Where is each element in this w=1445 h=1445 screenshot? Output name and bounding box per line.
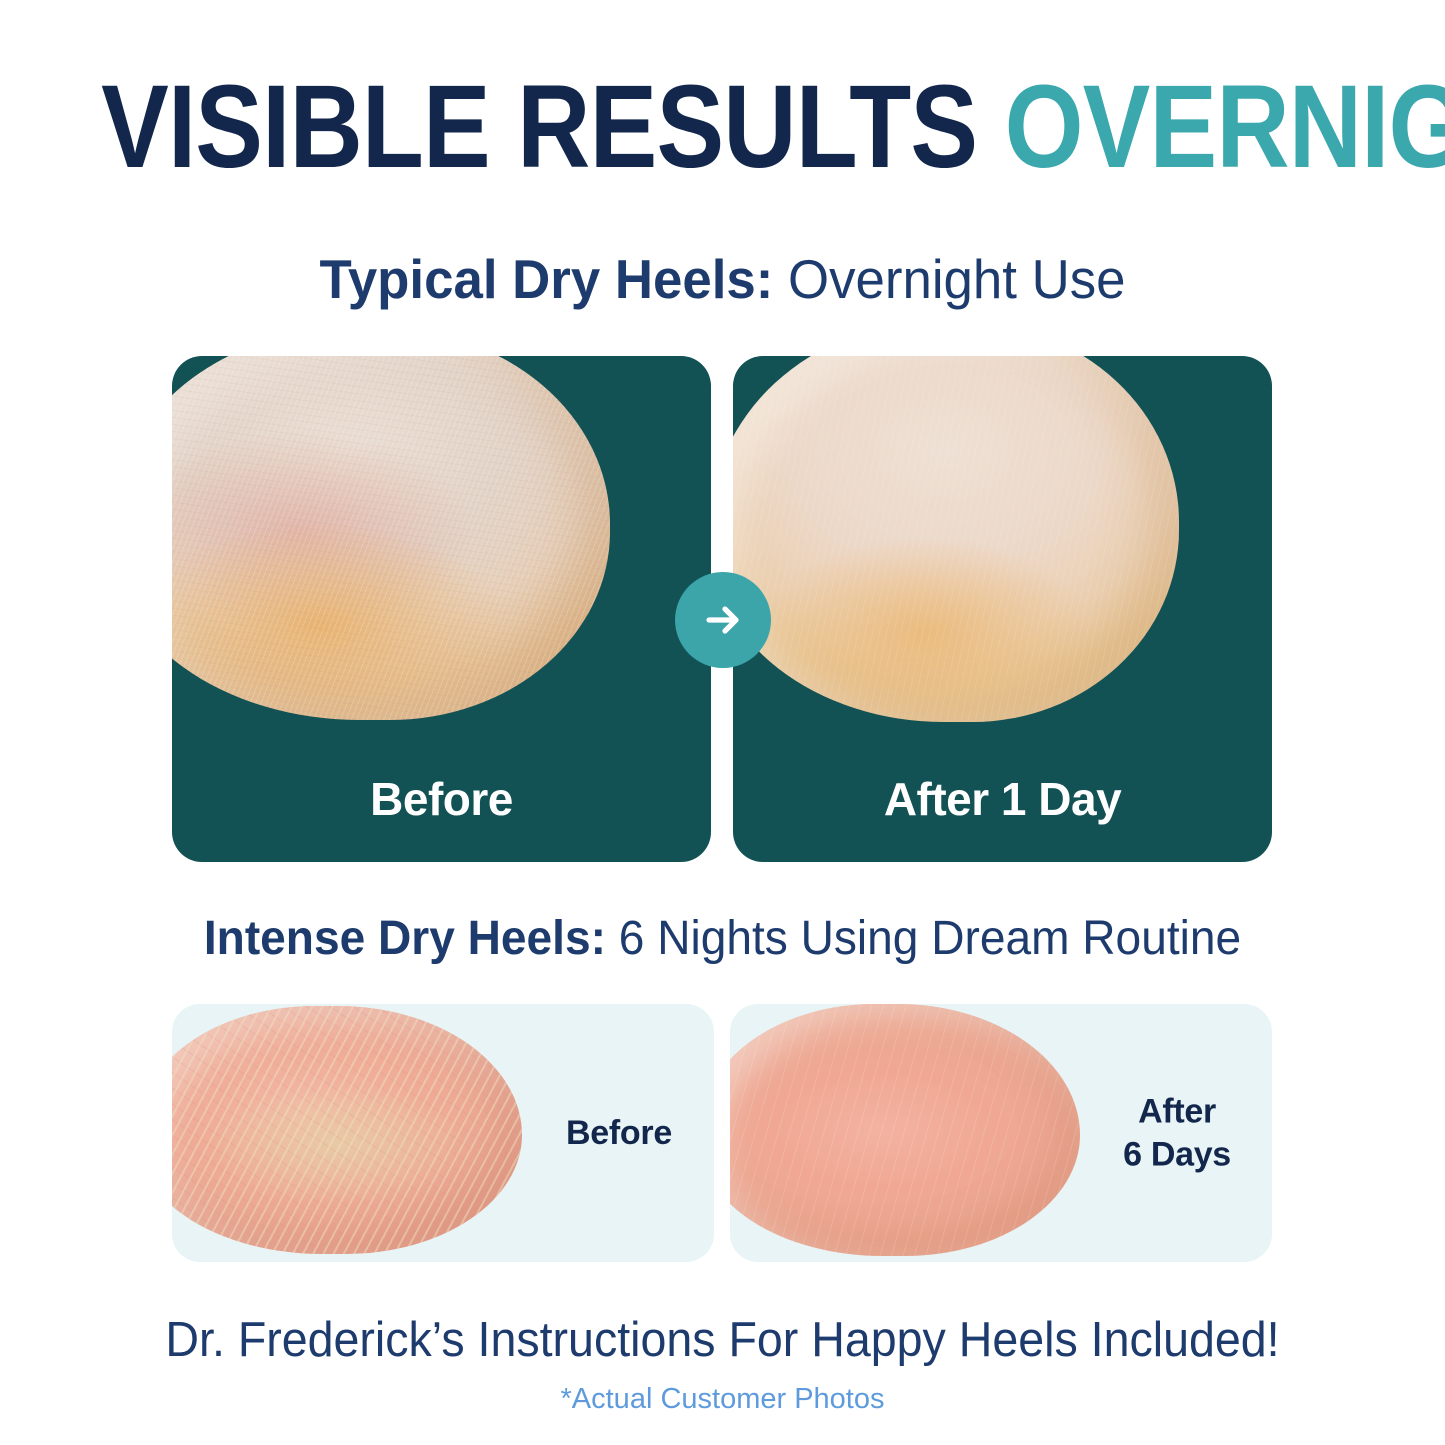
after-photo-container [733, 356, 1272, 724]
panel-label-intense-before: Before [524, 1112, 714, 1155]
page-title: VISIBLE RESULTS OVERNIGHT [101, 68, 1344, 186]
cracked-heel-before-photo [172, 1006, 522, 1254]
section-1-heading-regular: Overnight Use [788, 248, 1125, 310]
section-2-heading-bold: Intense Dry Heels: [204, 912, 606, 965]
section-1-heading-bold: Typical Dry Heels: [319, 248, 773, 310]
panel-label-intense-after: After 6 Days [1082, 1091, 1272, 1176]
panel-label-after: After 1 Day [733, 772, 1272, 826]
before-photo-container [172, 356, 711, 724]
footer-headline: Dr. Frederick’s Instructions For Happy H… [36, 1312, 1409, 1368]
footer-disclaimer: *Actual Customer Photos [0, 1383, 1445, 1416]
cracked-heel-after-photo [730, 1004, 1080, 1256]
dry-heel-after-photo [733, 356, 1179, 722]
section-2-heading-regular: 6 Nights Using Dream Routine [619, 912, 1241, 965]
headline-primary: VISIBLE RESULTS [101, 61, 977, 193]
intense-before-photo-container [172, 1004, 522, 1262]
headline-accent: OVERNIGHT [1005, 61, 1445, 193]
dry-heel-before-photo [172, 356, 610, 720]
before-after-panel-before: Before [172, 356, 711, 862]
panel-label-before: Before [172, 772, 711, 826]
section-1-heading: Typical Dry Heels: Overnight Use [29, 249, 1416, 311]
intense-after-photo-container [730, 1004, 1080, 1262]
panel-label-intense-after-line2: 6 Days [1082, 1133, 1272, 1176]
section-2-heading: Intense Dry Heels: 6 Nights Using Dream … [29, 912, 1416, 966]
promo-graphic: VISIBLE RESULTS OVERNIGHT Typical Dry He… [0, 0, 1445, 1445]
before-after-panel-after: After 1 Day [733, 356, 1272, 862]
intense-panel-after: After 6 Days [730, 1004, 1272, 1262]
section-2-panels: Before After 6 Days [172, 1004, 1272, 1262]
intense-panel-before: Before [172, 1004, 714, 1262]
panel-label-intense-after-line1: After [1082, 1091, 1272, 1134]
arrow-right-icon [675, 572, 771, 668]
